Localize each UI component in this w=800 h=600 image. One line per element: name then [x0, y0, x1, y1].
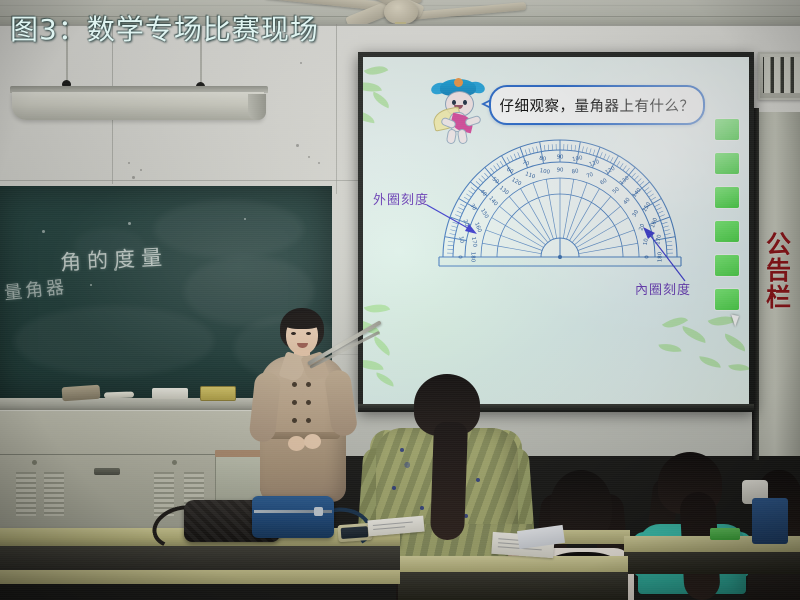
slide-nav-square[interactable] [715, 119, 739, 140]
wall-speaker-grille [758, 52, 800, 100]
blackboard-eraser [62, 385, 101, 402]
svg-text:180: 180 [469, 252, 475, 263]
desk-lower-shelf [0, 570, 400, 584]
svg-text:90: 90 [557, 168, 564, 174]
speech-bubble-text: 仔细观察，量角器上有什么？ [500, 95, 695, 116]
bulletin-board-label: 公告栏 [762, 232, 796, 311]
slide-nav-square[interactable] [715, 221, 739, 242]
leaf-decoration [363, 61, 415, 141]
fan-hub [384, 0, 418, 24]
slide-nav-square[interactable] [715, 289, 739, 310]
fluorescent-light [10, 86, 270, 124]
name-plaque [200, 386, 236, 401]
speech-bubble: 仔细观察，量角器上有什么？ [489, 85, 705, 125]
chalk-stick [104, 391, 134, 398]
standing-student-ponytail [430, 421, 468, 540]
cabinet-handle[interactable] [94, 468, 120, 475]
classroom-photo: 角的度量 量角器 公告栏 [0, 0, 800, 600]
presentation-slide: 仔细观察，量角器上有什么？ [363, 57, 749, 405]
svg-text:90: 90 [557, 155, 564, 161]
desk-front-panel [0, 546, 400, 572]
annotation-outer-scale: 外圈刻度 [373, 189, 429, 208]
annotation-arrow-inner [641, 225, 697, 285]
projection-screen: 仔细观察，量角器上有什么？ [358, 52, 754, 410]
desk-front-panel [624, 552, 800, 574]
desk-front-panel [398, 572, 628, 600]
desk-surface [398, 556, 628, 572]
slide-nav-square[interactable] [715, 255, 739, 276]
chalk-box [152, 388, 188, 399]
blue-bin [752, 498, 788, 544]
slide-nav-square[interactable] [715, 187, 739, 208]
seated-student-b [636, 452, 756, 600]
annotation-arrow-outer [425, 203, 485, 239]
svg-text:0: 0 [456, 255, 462, 259]
slide-nav-square[interactable] [715, 153, 739, 174]
blue-handbag [252, 496, 334, 538]
chalkboard-topic: 角的度量 [59, 241, 168, 277]
green-notebook [710, 528, 740, 540]
figure-caption: 图3：数学专场比赛现场 [10, 8, 319, 48]
mouse-cursor [731, 312, 742, 327]
